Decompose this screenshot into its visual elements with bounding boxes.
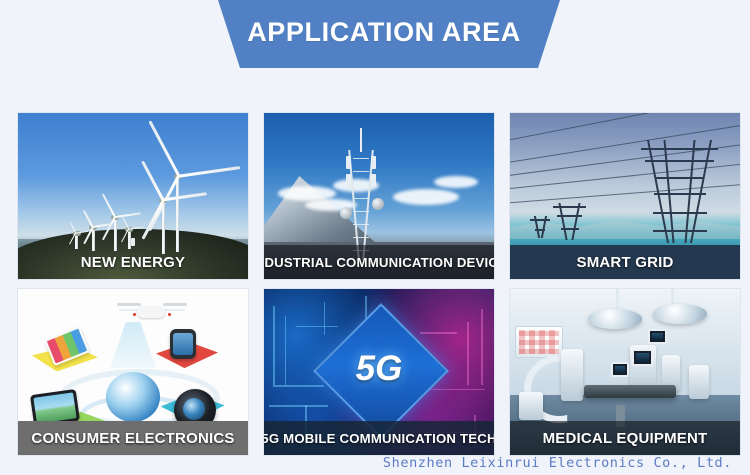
light-beam (110, 322, 156, 368)
globe-icon (106, 372, 160, 422)
tile-consumer-electronics[interactable]: CONSUMER ELECTRONICS (17, 288, 249, 456)
equipment-cart (519, 392, 543, 420)
page-title: APPLICATION AREA (208, 0, 560, 68)
chip-label: 5G (333, 323, 425, 415)
wind-turbine-icon (170, 174, 186, 252)
tile-caption: CONSUMER ELECTRONICS (18, 421, 248, 455)
tile-caption: NEW ENERGY (18, 245, 248, 279)
transmission-tower-icon (535, 216, 545, 238)
tile-caption: 5G MOBILE COMMUNICATION TECH (264, 421, 494, 455)
operating-table-icon (584, 385, 676, 398)
drone-icon (119, 299, 185, 325)
transmission-tower-icon (653, 140, 707, 243)
tile-industrial-communication-device[interactable]: INDUSTRIAL COMMUNICATION DEVICE (263, 112, 495, 280)
wall-monitor-icon (648, 329, 667, 344)
vital-monitor-icon (632, 349, 653, 366)
xray-viewer-icon (515, 326, 563, 358)
tile-medical-equipment[interactable]: MEDICAL EQUIPMENT (509, 288, 741, 456)
tile-caption: INDUSTRIAL COMMUNICATION DEVICE (264, 245, 494, 279)
vital-monitor-icon (611, 362, 629, 377)
cell-tower-icon (351, 150, 371, 260)
company-name: Shenzhen Leixinrui Electronics Co., Ltd. (0, 455, 750, 471)
tile-new-energy[interactable]: NEW ENERGY (17, 112, 249, 280)
transmission-tower-icon (561, 203, 579, 240)
tile-smart-grid[interactable]: SMART GRID (509, 112, 741, 280)
tile-caption: MEDICAL EQUIPMENT (510, 421, 740, 455)
tile-5g-mobile-communication-tech[interactable]: 5G 5G MOBILE COMMUNICATION TECH (263, 288, 495, 456)
equipment-cart (561, 349, 583, 401)
equipment-cart (689, 365, 709, 399)
header: APPLICATION AREA (0, 0, 750, 96)
application-area-grid: NEW ENERGY INDUSTRIAL COMM (17, 112, 733, 456)
surgical-lamp-icon (588, 309, 642, 329)
smartwatch-icon (170, 329, 196, 359)
surgical-lamp-icon (653, 304, 707, 324)
tile-caption: SMART GRID (510, 245, 740, 279)
